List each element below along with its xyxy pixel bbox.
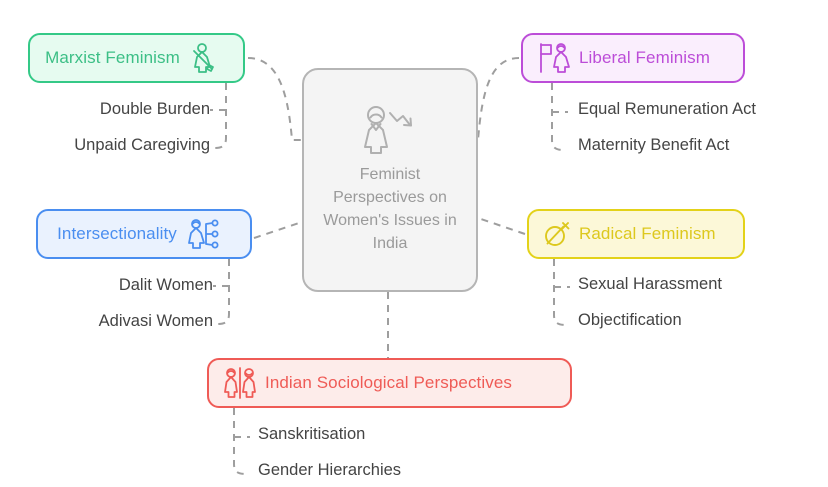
branch-node-marxist-feminism[interactable]: Marxist Feminism [28, 33, 245, 83]
branch-node-intersectionality[interactable]: Intersectionality [36, 209, 252, 259]
connector-central-marxist [248, 58, 302, 140]
sub-label-dalit-women: Dalit Women [25, 276, 213, 295]
branch-label-radical-feminism: Radical Feminism [579, 224, 716, 244]
connector-inter-children [217, 259, 229, 324]
branch-label-marxist-feminism: Marxist Feminism [45, 48, 180, 68]
connector-central-intersectionality [254, 222, 302, 238]
branch-node-indian-sociological-perspectives[interactable]: Indian Sociological Perspectives [207, 358, 572, 408]
branch-node-liberal-feminism[interactable]: Liberal Feminism [521, 33, 745, 83]
two-figures-divided-icon [223, 367, 257, 399]
branch-label-liberal-feminism: Liberal Feminism [579, 48, 710, 68]
sub-label-adivasi-women: Adivasi Women [20, 312, 213, 331]
connector-radical-children [554, 259, 566, 325]
sub-label-sexual-harassment: Sexual Harassment [578, 275, 722, 294]
gender-symbol-crossed-out-icon [543, 220, 571, 248]
sub-label-unpaid-caregiving: Unpaid Caregiving [10, 136, 210, 155]
connector-indian-children [234, 408, 246, 474]
branch-label-indian-sociological-perspectives: Indian Sociological Perspectives [265, 373, 512, 393]
sub-label-equal-remuneration-act: Equal Remuneration Act [578, 100, 756, 119]
sub-label-sanskritisation: Sanskritisation [258, 425, 365, 444]
connector-liberal-children [552, 83, 564, 150]
branch-node-radical-feminism[interactable]: Radical Feminism [527, 209, 745, 259]
central-node[interactable]: Feminist Perspectives on Women's Issues … [302, 68, 478, 292]
woman-network-nodes-icon [187, 219, 219, 249]
flag-woman-icon [537, 42, 571, 74]
sub-label-gender-hierarchies: Gender Hierarchies [258, 461, 401, 480]
connector-marxist-children [214, 83, 226, 148]
mindmap-canvas: Feminist Perspectives on Women's Issues … [0, 0, 828, 487]
sub-label-double-burden: Double Burden [20, 100, 210, 119]
woman-declining-trend-icon [359, 105, 421, 155]
branch-label-intersectionality: Intersectionality [57, 224, 177, 244]
sub-label-maternity-benefit-act: Maternity Benefit Act [578, 136, 729, 155]
central-node-title: Feminist Perspectives on Women's Issues … [318, 163, 462, 255]
sub-label-objectification: Objectification [578, 311, 682, 330]
connector-central-radical [478, 218, 525, 234]
woman-labor-icon [190, 43, 216, 73]
